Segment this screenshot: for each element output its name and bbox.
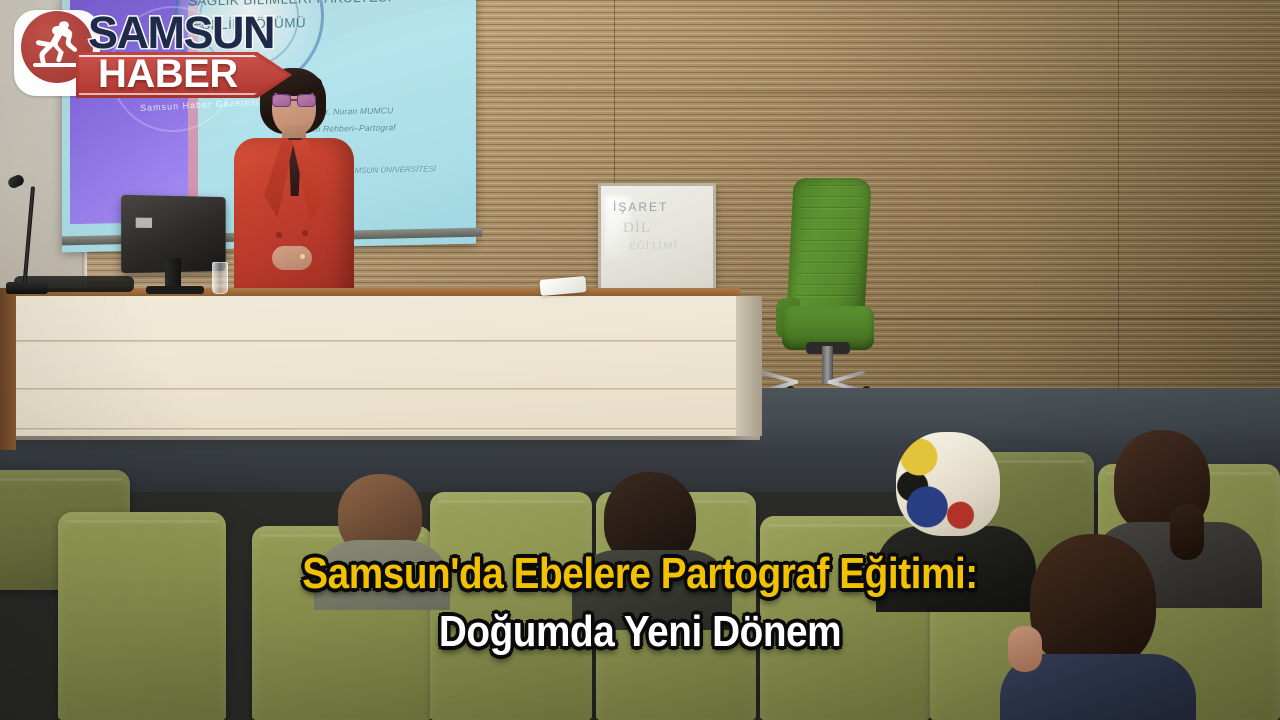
headline-overlay: Samsun'da Ebelere Partograf Eğitimi: Doğ… <box>0 552 1280 654</box>
monitor-sticker <box>136 218 152 228</box>
speaker-red-blazer <box>234 138 354 300</box>
whiteboard: İŞARET DİL EĞİTİMİ <box>598 183 716 296</box>
samsun-haber-logo[interactable]: Samsun Haber Gazetesi SAMSUN HABER <box>14 4 294 108</box>
podium-riser <box>736 296 762 436</box>
headline-line-1: Samsun'da Ebelere Partograf Eğitimi: <box>77 552 1203 602</box>
speaker-hands <box>272 246 312 270</box>
green-executive-chair <box>776 178 884 408</box>
headscarf <box>896 432 1000 536</box>
brand-name-bottom: HABER <box>98 54 238 94</box>
whiteboard-line1: İŞARET <box>613 200 668 214</box>
water-glass <box>212 262 228 294</box>
podium-desk <box>0 296 736 436</box>
brand-name-top: SAMSUN <box>88 10 274 55</box>
news-photo-card: SAĞLIK BİLİMLERİ FAKÜLTESİ EBELİK BÖLÜMÜ… <box>0 0 1280 720</box>
headline-line-2: Doğumda Yeni Dönem <box>77 602 1203 654</box>
monitor-stand-base <box>146 286 204 294</box>
whiteboard-line2: DİL <box>623 220 651 237</box>
whiteboard-line3: EĞİTİMİ <box>629 240 678 252</box>
speaker-ring <box>300 254 305 259</box>
blazer-lapel-left <box>264 140 294 218</box>
podium-side-panel <box>0 288 16 450</box>
gooseneck-microphone-icon <box>6 170 40 292</box>
